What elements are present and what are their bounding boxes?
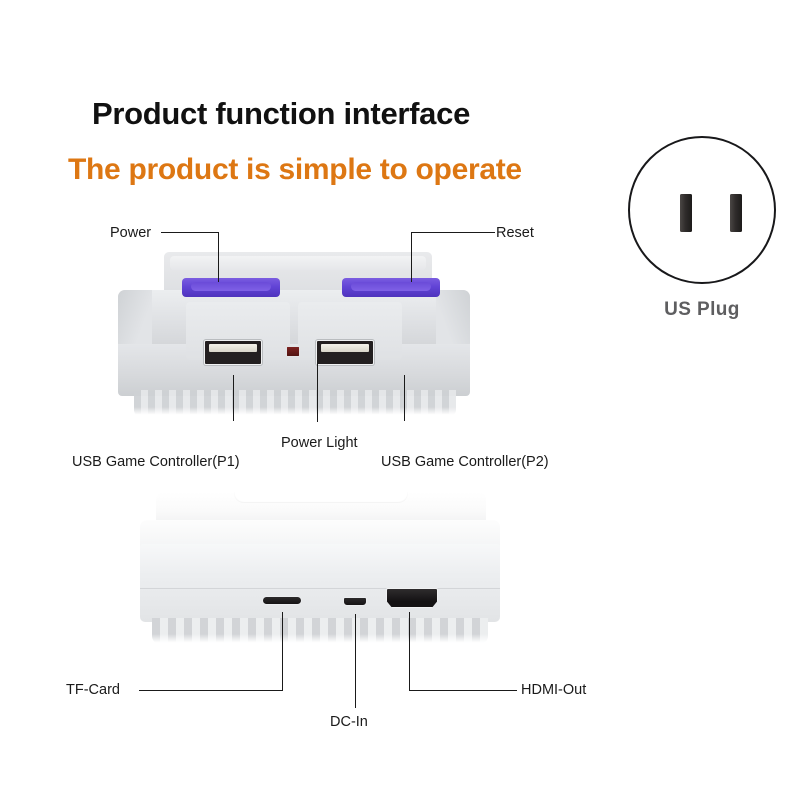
console-rear-face <box>140 544 500 622</box>
usb-port-p1[interactable] <box>204 340 262 365</box>
console-rear-seam <box>140 588 500 589</box>
callout-label-power: Power <box>110 226 151 241</box>
callout-label-usb-p1: USB Game Controller(P1) <box>72 455 240 470</box>
power-led-indicator <box>286 346 300 357</box>
callout-leader-power-h <box>161 232 218 233</box>
callout-leader-reset-h <box>411 232 495 233</box>
callout-leader-usb-p2 <box>404 375 405 421</box>
callout-leader-tf-card-v <box>282 612 283 690</box>
callout-leader-power-v <box>218 232 219 282</box>
console-right-bevel <box>436 290 470 346</box>
plug-prong-right-icon <box>730 194 742 232</box>
console-top-view <box>118 252 470 424</box>
callout-label-dc-in: DC-In <box>330 715 368 730</box>
page-title: Product function interface <box>92 96 470 132</box>
power-button[interactable] <box>182 278 280 297</box>
usb-port-p2[interactable] <box>316 340 374 365</box>
hdmi-out-port[interactable] <box>386 588 438 608</box>
callout-label-hdmi-out: HDMI-Out <box>521 683 586 698</box>
callout-leader-hdmi-h <box>409 690 517 691</box>
console-left-bevel <box>118 290 152 346</box>
callout-leader-hdmi-v <box>409 612 410 690</box>
console-bottom-view <box>140 492 500 652</box>
dc-in-port[interactable] <box>343 597 367 606</box>
console-top-lid <box>118 290 470 346</box>
callout-leader-tf-card-h <box>139 690 283 691</box>
us-plug-label: US Plug <box>620 299 784 321</box>
callout-label-usb-p2: USB Game Controller(P2) <box>381 455 549 470</box>
infographic-canvas: Product function interface The product i… <box>0 0 800 800</box>
console-vent-ribs <box>134 390 456 416</box>
callout-leader-dc-in <box>355 614 356 708</box>
tf-card-slot[interactable] <box>262 596 302 605</box>
callout-label-power-light: Power Light <box>281 436 358 451</box>
reset-button[interactable] <box>342 278 440 297</box>
callout-leader-reset-v <box>411 232 412 282</box>
us-plug-diagram: US Plug <box>620 136 784 346</box>
callout-label-tf-card: TF-Card <box>66 683 120 698</box>
plug-socket-icon <box>628 136 776 284</box>
console-bottom-vent-ribs <box>152 618 488 644</box>
plug-prong-left-icon <box>680 194 692 232</box>
callout-leader-usb-p1 <box>233 375 234 421</box>
callout-label-reset: Reset <box>496 226 534 241</box>
page-subtitle: The product is simple to operate <box>68 153 522 187</box>
callout-leader-power-light <box>317 360 318 422</box>
